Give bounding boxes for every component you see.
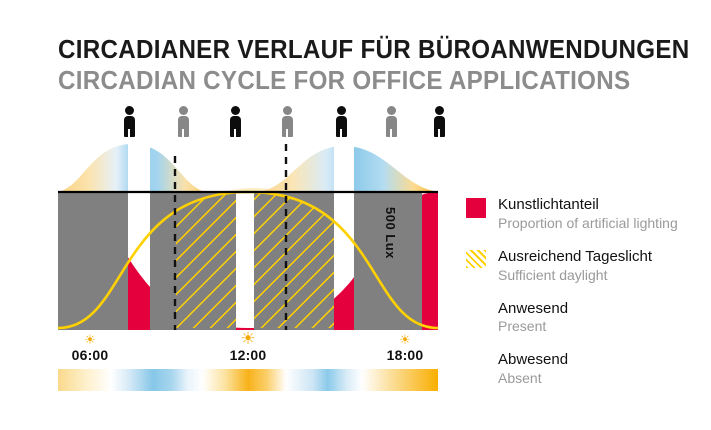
legend-label-english: Absent — [498, 370, 696, 387]
page-title-english: CIRCADIAN CYCLE FOR OFFICE APPLICATIONS — [58, 67, 579, 94]
time-tick-0600: ☀ 06:00 — [55, 333, 125, 363]
circadian-chart — [58, 140, 438, 330]
legend-label-german: Ausreichend Tageslicht — [498, 248, 696, 267]
legend-label-english: Sufficient daylight — [498, 267, 696, 284]
person-present-icon — [469, 302, 483, 322]
person-absent-icon — [469, 353, 483, 373]
person-body — [386, 116, 397, 137]
person-body — [178, 116, 189, 137]
time-label: 18:00 — [370, 347, 440, 363]
person-head — [283, 106, 292, 115]
person-head — [435, 106, 444, 115]
occupancy-icon-row — [58, 104, 438, 138]
person-head — [337, 106, 346, 115]
colour-temperature-curves — [58, 140, 438, 192]
legend-label-english: Present — [498, 318, 696, 335]
person-body — [230, 116, 241, 137]
legend-item-absent: Abwesend Absent — [466, 351, 696, 387]
red-square-swatch-icon — [466, 198, 486, 218]
legend-item-sufficient-daylight: Ausreichend Tageslicht Sufficient daylig… — [466, 248, 696, 284]
legend-label-english: Proportion of artificial lighting — [498, 215, 696, 232]
legend-label-german: Kunstlichtanteil — [498, 196, 696, 215]
occupancy-columns — [58, 192, 438, 330]
chart-canvas — [58, 140, 438, 330]
time-axis: ☀ 06:00 ☀ 12:00 ☀ 18:00 — [58, 333, 438, 361]
time-label: 06:00 — [55, 347, 125, 363]
lux-axis-label: 500 Lux — [383, 207, 398, 259]
sufficient-daylight-region — [176, 192, 336, 330]
person-present-icon — [334, 106, 348, 138]
person-head — [387, 106, 396, 115]
person-present-icon — [432, 106, 446, 138]
person-absent-icon — [384, 106, 398, 138]
person-present-icon — [122, 106, 136, 138]
legend: Kunstlichtanteil Proportion of artificia… — [466, 196, 696, 400]
person-head — [125, 106, 134, 115]
yellow-hatch-swatch-icon — [466, 250, 486, 268]
small-sun-icon: ☀ — [55, 333, 125, 346]
time-tick-1200: ☀ 12:00 — [213, 333, 283, 363]
person-body — [282, 116, 293, 137]
legend-label-german: Anwesend — [498, 300, 696, 319]
person-absent-icon — [280, 106, 294, 138]
person-absent-icon — [176, 106, 190, 138]
page-title-german: CIRCADIANER VERLAUF FÜR BÜROANWENDUNGEN — [58, 36, 579, 63]
person-body — [124, 116, 135, 137]
person-body — [336, 116, 347, 137]
person-head — [179, 106, 188, 115]
person-body — [434, 116, 445, 137]
cct-gap-1 — [128, 140, 150, 192]
legend-item-artificial-light: Kunstlichtanteil Proportion of artificia… — [466, 196, 696, 232]
small-sun-icon: ☀ — [370, 333, 440, 346]
person-head — [231, 106, 240, 115]
time-label: 12:00 — [213, 347, 283, 363]
colour-temperature-bar — [58, 369, 438, 391]
large-sun-icon: ☀ — [213, 333, 283, 346]
title-block: CIRCADIANER VERLAUF FÜR BÜROANWENDUNGEN … — [58, 36, 618, 95]
occupancy-fill — [58, 192, 438, 330]
person-present-icon — [228, 106, 242, 138]
legend-item-present: Anwesend Present — [466, 300, 696, 336]
legend-label-german: Abwesend — [498, 351, 696, 370]
time-tick-1800: ☀ 18:00 — [370, 333, 440, 363]
cct-gap-3 — [334, 140, 354, 192]
sufficient-daylight-hatch — [176, 192, 336, 330]
